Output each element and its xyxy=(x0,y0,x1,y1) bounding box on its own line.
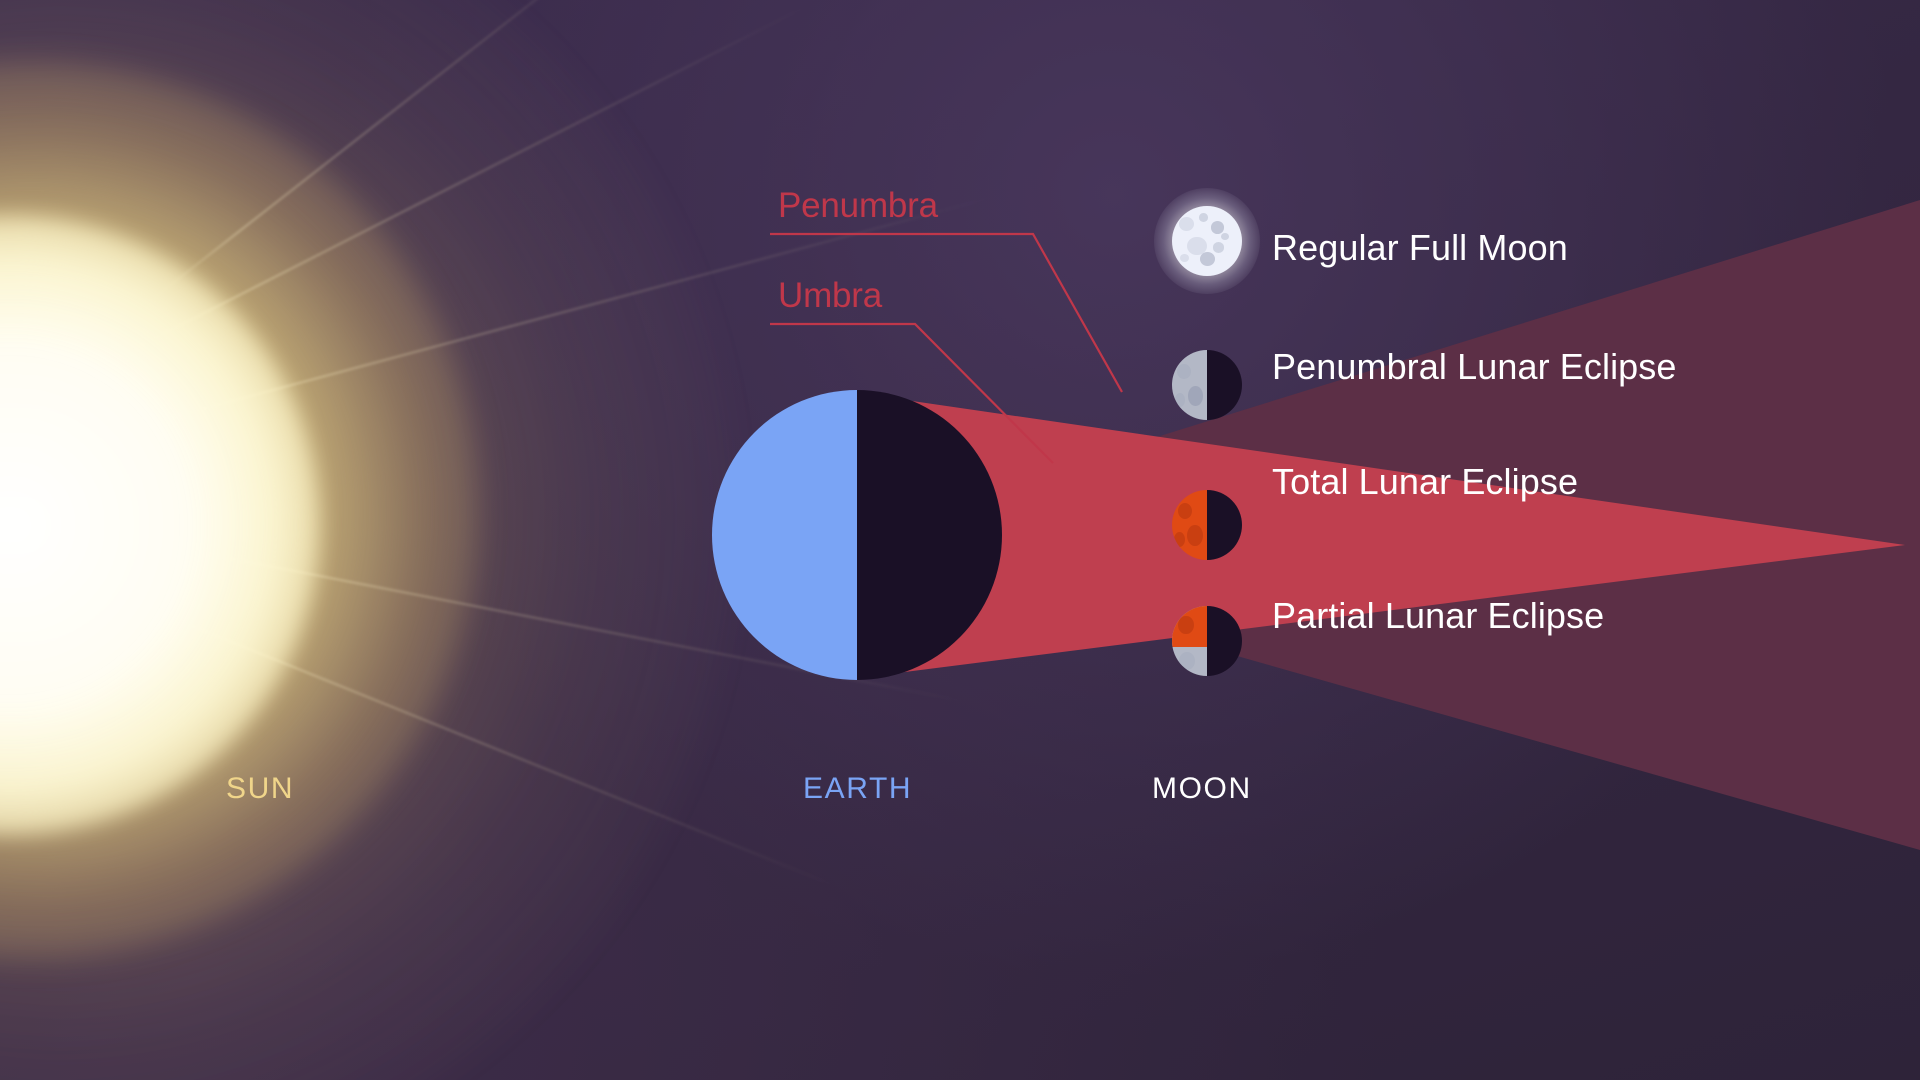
legend-label-regular-full-moon: Regular Full Moon xyxy=(1272,227,1568,269)
umbra-label: Umbra xyxy=(778,276,882,316)
lunar-eclipse-diagram: Penumbra Umbra Regular Full Moon Penumbr… xyxy=(0,0,1920,1080)
sun-label: SUN xyxy=(226,772,294,806)
legend-label-total-lunar-eclipse: Total Lunar Eclipse xyxy=(1272,461,1578,503)
earth-label: EARTH xyxy=(803,772,1093,1062)
penumbral-moon-icon xyxy=(1172,350,1242,420)
total-eclipse-moon-icon xyxy=(1172,490,1242,560)
legend-label-penumbral-lunar-eclipse: Penumbral Lunar Eclipse xyxy=(1272,346,1677,388)
moon-label: MOON xyxy=(1152,772,1252,806)
legend-label-partial-lunar-eclipse: Partial Lunar Eclipse xyxy=(1272,595,1604,637)
umbra-leader-line xyxy=(770,324,1053,463)
partial-eclipse-moon-icon xyxy=(1172,606,1242,676)
penumbral-moon-disc xyxy=(1172,350,1242,420)
full-moon-disc xyxy=(1172,206,1242,276)
total-eclipse-moon-disc xyxy=(1172,490,1242,560)
partial-eclipse-moon-disc xyxy=(1172,606,1242,676)
penumbra-label: Penumbra xyxy=(778,186,938,226)
full-moon-icon xyxy=(1172,206,1242,276)
